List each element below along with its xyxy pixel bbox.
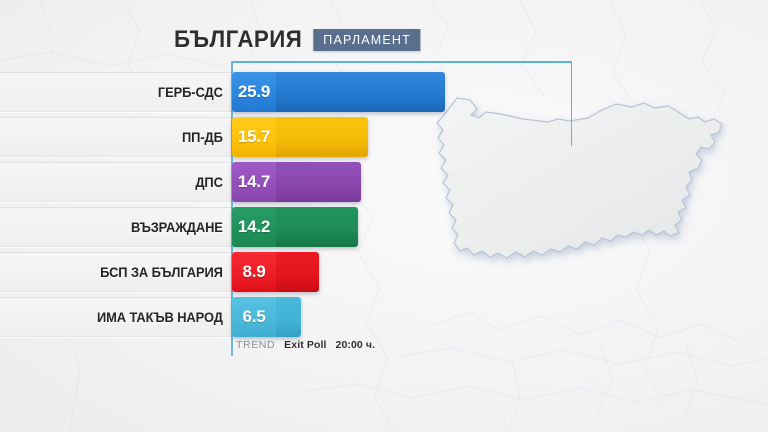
bar-fill (276, 207, 358, 247)
page-title: БЪЛГАРИЯ (174, 26, 302, 54)
footer-credit: TREND Exit Poll 20:00 ч. (236, 339, 375, 351)
bar-value: 6.5 (232, 297, 276, 337)
bar-value: 25.9 (232, 72, 276, 112)
table-row: ПП-ДБ 15.7 (0, 117, 768, 157)
source-label: TREND (236, 339, 275, 351)
table-row: ИМА ТАКЪВ НАРОД 6.5 (0, 297, 768, 337)
bar: 14.7 (232, 162, 361, 202)
table-row: ДПС 14.7 (0, 162, 768, 202)
header: БЪЛГАРИЯ ПАРЛАМЕНТ (164, 26, 420, 54)
bar-value: 14.7 (232, 162, 276, 202)
bar: 14.2 (232, 207, 358, 247)
party-label: ГЕРБ-СДС (19, 84, 232, 100)
bar-fill (276, 117, 368, 157)
bar: 15.7 (232, 117, 368, 157)
bar: 6.5 (232, 297, 301, 337)
bar-fill (276, 252, 319, 292)
time-label: 20:00 ч. (336, 339, 376, 351)
party-label: ПП-ДБ (19, 129, 232, 145)
bar: 25.9 (232, 72, 445, 112)
broadcast-graphic: БЪЛГАРИЯ ПАРЛАМЕНТ ГЕРБ-СДС 25.9 ПП-ДБ 1… (0, 0, 768, 432)
bar-value: 14.2 (232, 207, 276, 247)
bar: 8.9 (232, 252, 319, 292)
method-label: Exit Poll (284, 339, 326, 351)
status-badge: ПАРЛАМЕНТ (313, 29, 420, 51)
accent-line-right (571, 61, 573, 146)
party-label: ИМА ТАКЪВ НАРОД (19, 309, 232, 325)
bar-value: 8.9 (232, 252, 276, 292)
bar-fill (276, 162, 361, 202)
table-row: ГЕРБ-СДС 25.9 (0, 72, 768, 112)
accent-line-top (232, 61, 572, 63)
party-label: ВЪЗРАЖДАНЕ (19, 219, 232, 235)
bar-fill (276, 297, 301, 337)
bar-fill (276, 72, 445, 112)
table-row: ВЪЗРАЖДАНЕ 14.2 (0, 207, 768, 247)
results-chart: ГЕРБ-СДС 25.9 ПП-ДБ 15.7 ДПС 14.7 ВЪЗРАЖ… (0, 72, 768, 342)
party-label: БСП ЗА БЪЛГАРИЯ (19, 264, 232, 280)
party-label: ДПС (19, 174, 232, 190)
bar-value: 15.7 (232, 117, 276, 157)
table-row: БСП ЗА БЪЛГАРИЯ 8.9 (0, 252, 768, 292)
